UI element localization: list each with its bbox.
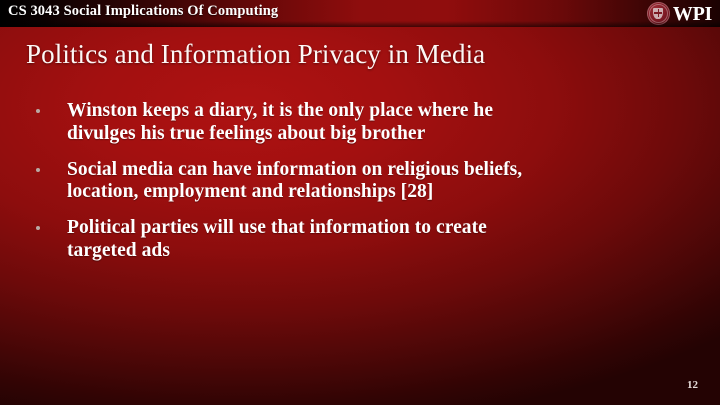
bullet-list: Winston keeps a diary, it is the only pl… bbox=[36, 100, 556, 276]
bullet-item: Political parties will use that informat… bbox=[36, 217, 556, 263]
slide-title: Politics and Information Privacy in Medi… bbox=[26, 39, 686, 70]
wpi-seal-icon bbox=[647, 2, 670, 25]
wpi-logo: WPI bbox=[647, 1, 712, 26]
bullet-text: Political parties will use that informat… bbox=[67, 217, 556, 263]
bullet-text: Winston keeps a diary, it is the only pl… bbox=[67, 100, 556, 146]
bullet-marker-icon bbox=[36, 100, 67, 113]
bullet-dot-icon bbox=[36, 226, 40, 230]
bullet-dot-icon bbox=[36, 109, 40, 113]
presentation-slide: CS 3043 Social Implications Of Computing… bbox=[0, 0, 720, 405]
bullet-dot-icon bbox=[36, 168, 40, 172]
bullet-item: Social media can have information on rel… bbox=[36, 159, 556, 205]
course-title: CS 3043 Social Implications Of Computing bbox=[8, 3, 278, 20]
bullet-item: Winston keeps a diary, it is the only pl… bbox=[36, 100, 556, 146]
slide-header-bar: CS 3043 Social Implications Of Computing… bbox=[0, 0, 720, 27]
bullet-marker-icon bbox=[36, 217, 67, 230]
wpi-wordmark: WPI bbox=[673, 4, 712, 24]
bullet-marker-icon bbox=[36, 159, 67, 172]
bullet-text: Social media can have information on rel… bbox=[67, 159, 556, 205]
slide-number: 12 bbox=[687, 379, 698, 391]
